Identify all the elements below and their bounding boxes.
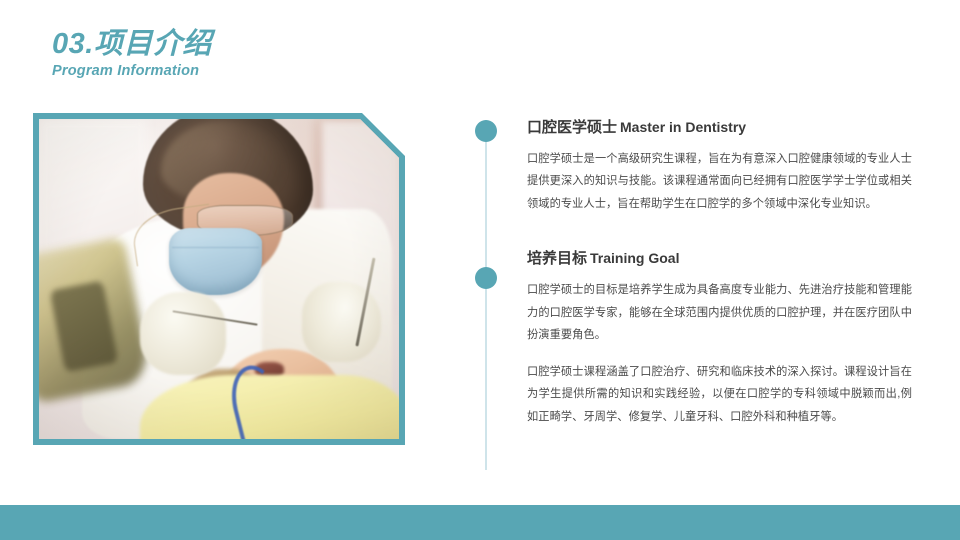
section-paragraph: 口腔学硕士课程涵盖了口腔治疗、研究和临床技术的深入探讨。课程设计旨在为学生提供所… bbox=[527, 361, 912, 429]
paragraph-spacer bbox=[527, 347, 912, 361]
bottom-accent-bar bbox=[0, 505, 960, 540]
photo-surgical-mask bbox=[169, 228, 263, 295]
section-heading-cn: 口腔医学硕士 bbox=[527, 119, 617, 136]
section-paragraph: 口腔学硕士是一个高级研究生课程，旨在为有意深入口腔健康领域的专业人士提供更深入的… bbox=[527, 148, 912, 216]
section-heading-en: Master in Dentistry bbox=[620, 119, 746, 135]
section-heading: 培养目标Training Goal bbox=[527, 249, 912, 269]
section-heading-cn: 培养目标 bbox=[527, 250, 587, 267]
slide: 03.项目介绍 Program Information bbox=[0, 0, 960, 540]
dentistry-photo bbox=[39, 119, 399, 439]
page-title: 03.项目介绍 bbox=[52, 28, 472, 61]
section-heading-en: Training Goal bbox=[590, 250, 679, 266]
section-training-goal: 培养目标Training Goal 口腔学硕士的目标是培养学生成为具备高度专业能… bbox=[527, 249, 912, 428]
photo-frame bbox=[33, 113, 405, 445]
section-spacer bbox=[527, 235, 912, 249]
photo-gloved-hand-left bbox=[140, 292, 226, 375]
photo-mask-pleat bbox=[172, 247, 258, 248]
section-heading: 口腔医学硕士Master in Dentistry bbox=[527, 118, 912, 138]
photo-gloved-hand-right bbox=[302, 282, 381, 362]
page-subtitle: Program Information bbox=[52, 63, 472, 79]
slide-header: 03.项目介绍 Program Information bbox=[52, 28, 472, 79]
timeline-line bbox=[485, 120, 487, 470]
section-master-in-dentistry: 口腔医学硕士Master in Dentistry 口腔学硕士是一个高级研究生课… bbox=[527, 118, 912, 215]
content-column: 口腔医学硕士Master in Dentistry 口腔学硕士是一个高级研究生课… bbox=[527, 118, 912, 449]
section-paragraph: 口腔学硕士的目标是培养学生成为具备高度专业能力、先进治疗技能和管理能力的口腔医学… bbox=[527, 279, 912, 347]
timeline-bullet-2 bbox=[475, 267, 497, 289]
timeline-bullet-1 bbox=[475, 120, 497, 142]
